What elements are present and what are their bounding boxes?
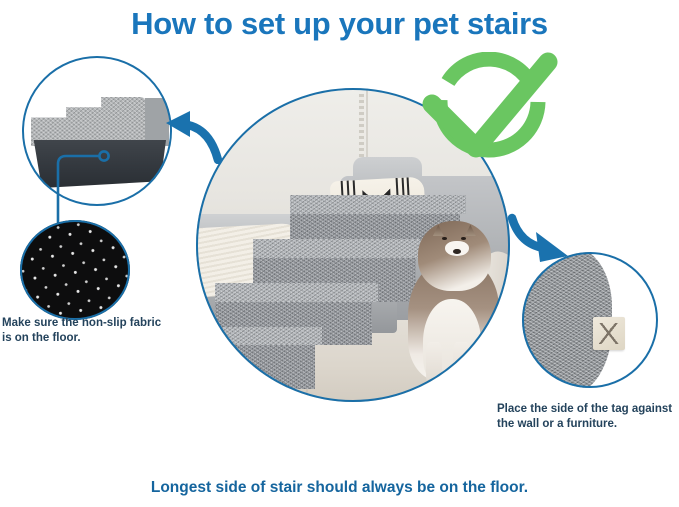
caption-non-slip-fabric: Make sure the non-slip fabric is on the …: [2, 316, 192, 346]
husky-dog: [391, 198, 510, 393]
curved-arrow-left-icon: [160, 106, 224, 164]
care-tag: [593, 317, 626, 350]
stair-step-1-face: [196, 339, 315, 389]
caption-line-2: the wall or a furniture.: [497, 417, 677, 432]
footer-note: Longest side of stair should always be o…: [0, 478, 679, 498]
dog-eye: [442, 237, 447, 240]
dog-nose: [453, 249, 460, 254]
dog-head: [418, 221, 491, 291]
dog-eye: [461, 237, 466, 240]
caption-line-1: Make sure the non-slip fabric: [2, 316, 192, 331]
non-slip-grip-dots: [20, 220, 130, 320]
inset-tag-placement: [522, 252, 658, 388]
inset-non-slip-fabric: [20, 220, 130, 320]
caption-tag-placement: Place the side of the tag against the wa…: [497, 402, 677, 432]
dog-paw: [425, 379, 444, 393]
caption-line-2: is on the floor.: [2, 331, 192, 346]
tag-logo-glyph: [599, 323, 620, 344]
stair-step-1-tread: [196, 327, 322, 346]
caption-line-1: Place the side of the tag against: [497, 402, 677, 417]
dog-paw: [452, 379, 471, 393]
infographic-canvas: How to set up your pet stairs: [0, 0, 679, 507]
page-title: How to set up your pet stairs: [0, 4, 679, 44]
fabric-edge-with-tag: [522, 252, 658, 388]
green-check-circle-icon: [414, 52, 562, 174]
dog-ear: [465, 225, 476, 236]
stair-step-2-tread: [215, 283, 378, 302]
dog-ear: [433, 225, 444, 236]
